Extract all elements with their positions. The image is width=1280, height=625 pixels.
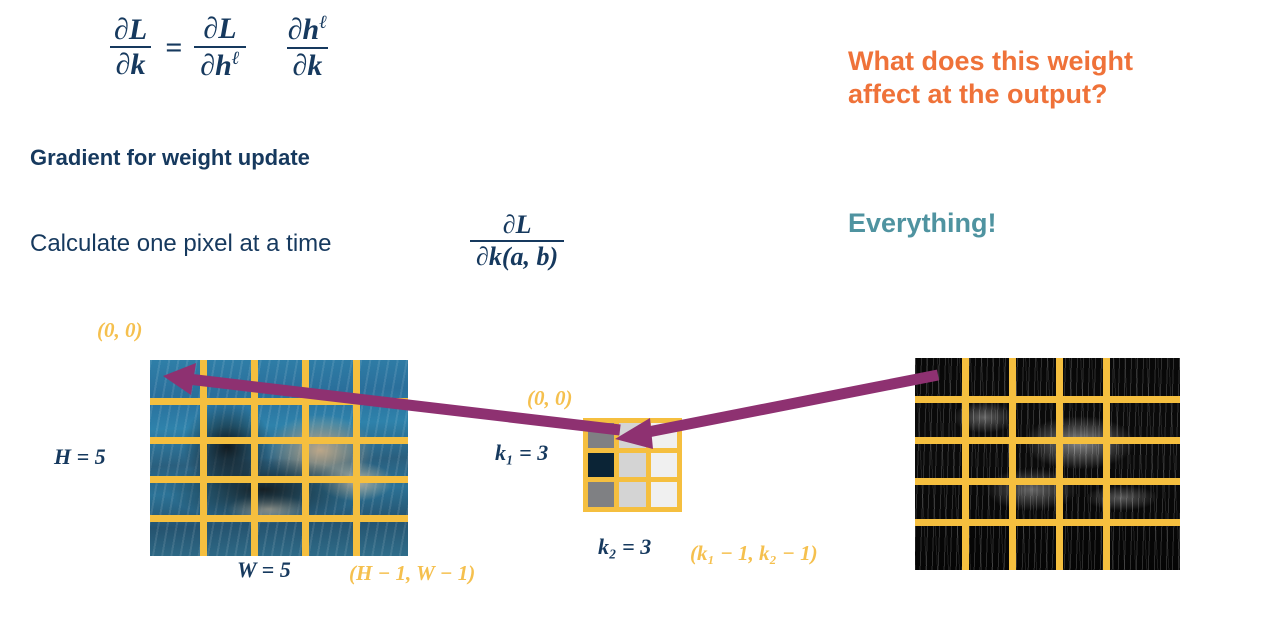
arrow-kernel-to-input — [163, 363, 620, 430]
arrow-output-to-kernel — [615, 375, 938, 449]
arrow-layer — [0, 0, 1280, 625]
